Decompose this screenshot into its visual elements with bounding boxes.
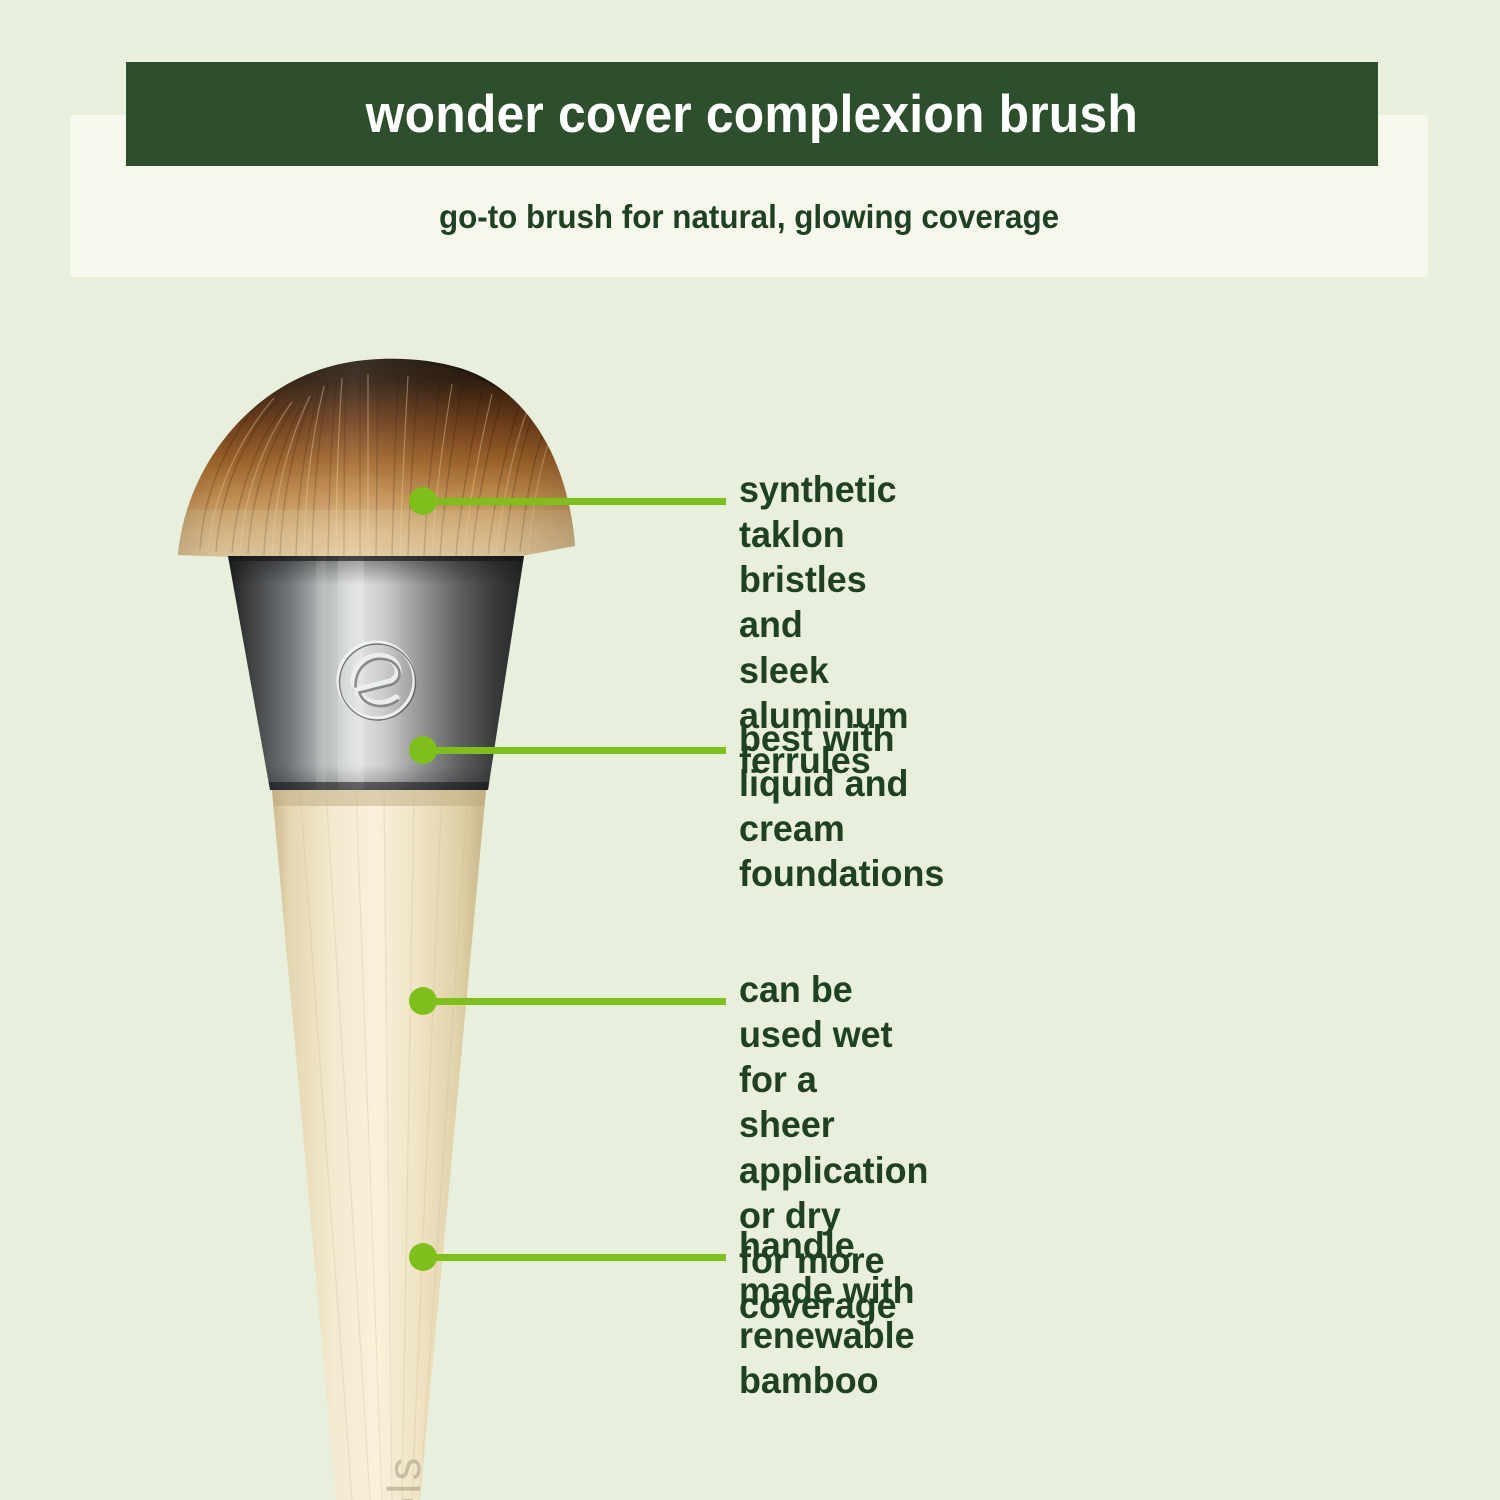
infographic-canvas: wonder cover complexion brush go-to brus… [0,0,1500,1500]
handle-imprint-text: ecotools [378,1455,430,1500]
page-title: wonder cover complexion brush [366,84,1138,145]
brush-handle: ecotools [260,790,500,1500]
callout-leader-line [423,498,726,505]
brush-bristles [120,350,640,570]
page-subtitle: go-to brush for natural, glowing coverag… [104,198,1394,236]
product-brush-illustration: ecotools [120,350,640,1500]
callout-text: handle made with renewable bamboo [739,1223,915,1404]
callout-leader-line [423,747,726,754]
title-bar: wonder cover complexion brush [126,62,1378,166]
callout-text: best with liquid and cream foundations [739,716,944,897]
brush-ferrule [220,550,540,800]
callout-leader-line [423,998,726,1005]
callout-leader-line [423,1254,726,1261]
